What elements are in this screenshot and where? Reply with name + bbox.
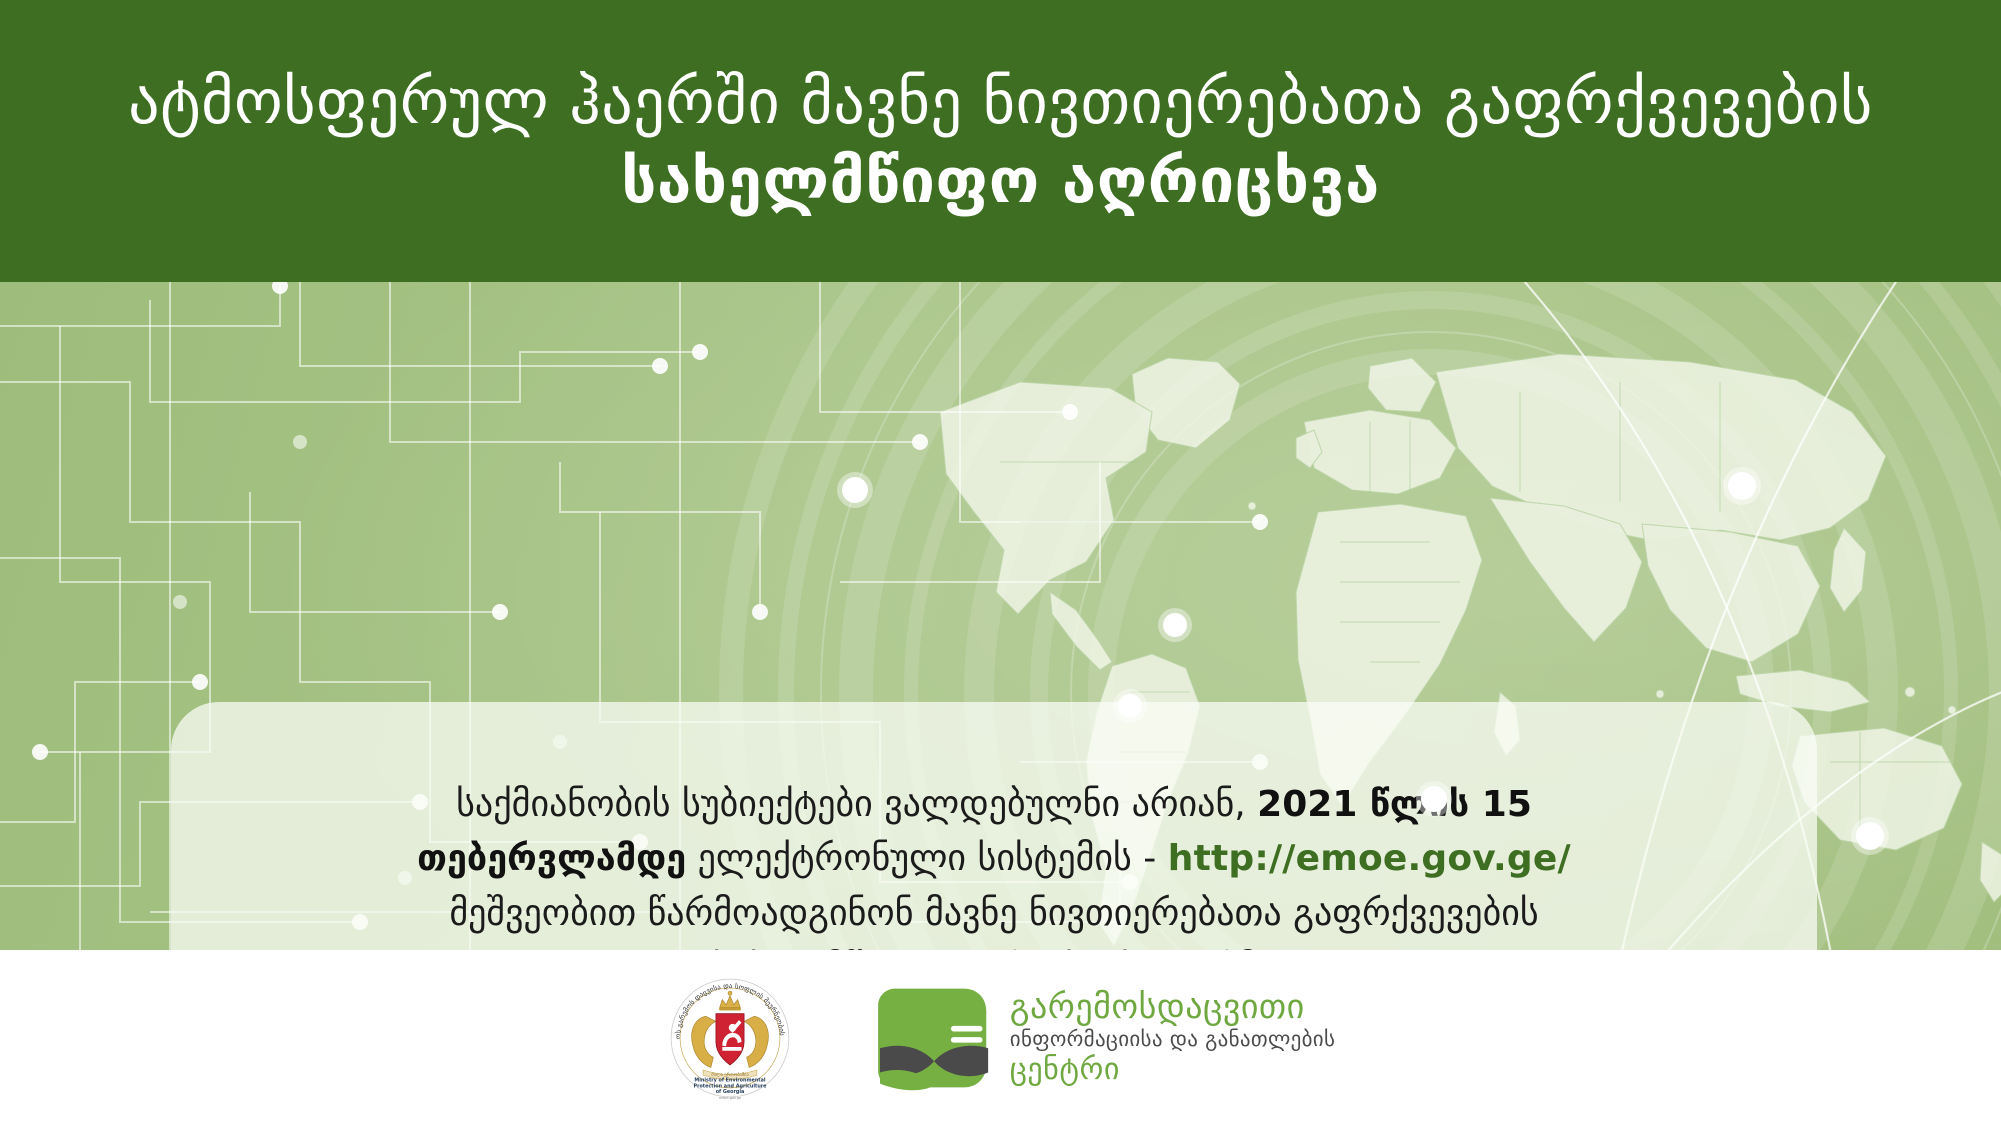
body-panel: საქმიანობის სუბიექტები ვალდებულნი არიან,…: [0, 282, 2001, 950]
eiec-line-1: გარემოსდაცვითი: [1010, 988, 1335, 1026]
eiec-wordmark: გარემოსდაცვითი ინფორმაციისა და განათლები…: [1010, 988, 1335, 1086]
seal-caption-3: of Georgia: [715, 1089, 744, 1095]
banner-canvas: ატმოსფერულ ჰაერში მავნე ნივთიერებათა გაფ…: [0, 0, 2001, 1125]
seal-caption-2: Protection and Agriculture: [693, 1083, 767, 1089]
message-part-2: ელექტრონული სისტემის -: [686, 838, 1168, 879]
message-part-1: საქმიანობის სუბიექტები ვალდებულნი არიან,: [456, 784, 1257, 825]
message-part-3: მეშვეობით წარმოადგინონ მავნე ნივთიერებათ…: [449, 893, 1538, 950]
header-bar: ატმოსფერულ ჰაერში მავნე ნივთიერებათა გაფ…: [0, 0, 2001, 282]
eiec-line-3: ცენტრი: [1010, 1053, 1335, 1087]
eiec-line-2: ინფორმაციისა და განათლების: [1010, 1028, 1335, 1052]
ministry-seal-logo: საქართველოს გარემოს დაცვისა და სოფლის მე…: [666, 974, 794, 1102]
seal-caption-4: mepa.gov.ge: [719, 1095, 741, 1099]
footer-logos: საქართველოს გარემოს დაცვისა და სოფლის მე…: [0, 950, 2001, 1125]
seal-caption-1: Ministry of Environmental: [694, 1077, 765, 1083]
message-card: საქმიანობის სუბიექტები ვალდებულნი არიან,…: [171, 702, 1817, 950]
header-title-line-2: სახელმწიფო აღრიცხვა: [621, 144, 1380, 217]
message-card-text: საქმიანობის სუბიექტები ვალდებულნი არიან,…: [344, 778, 1644, 950]
emoe-portal-link[interactable]: http://emoe.gov.ge/: [1168, 838, 1571, 879]
header-title-line-1: ატმოსფერულ ჰაერში მავნე ნივთიერებათა გაფ…: [128, 65, 1873, 138]
eiec-book-icon: [874, 983, 996, 1093]
eiec-logo: გარემოსდაცვითი ინფორმაციისა და განათლები…: [874, 983, 1335, 1093]
